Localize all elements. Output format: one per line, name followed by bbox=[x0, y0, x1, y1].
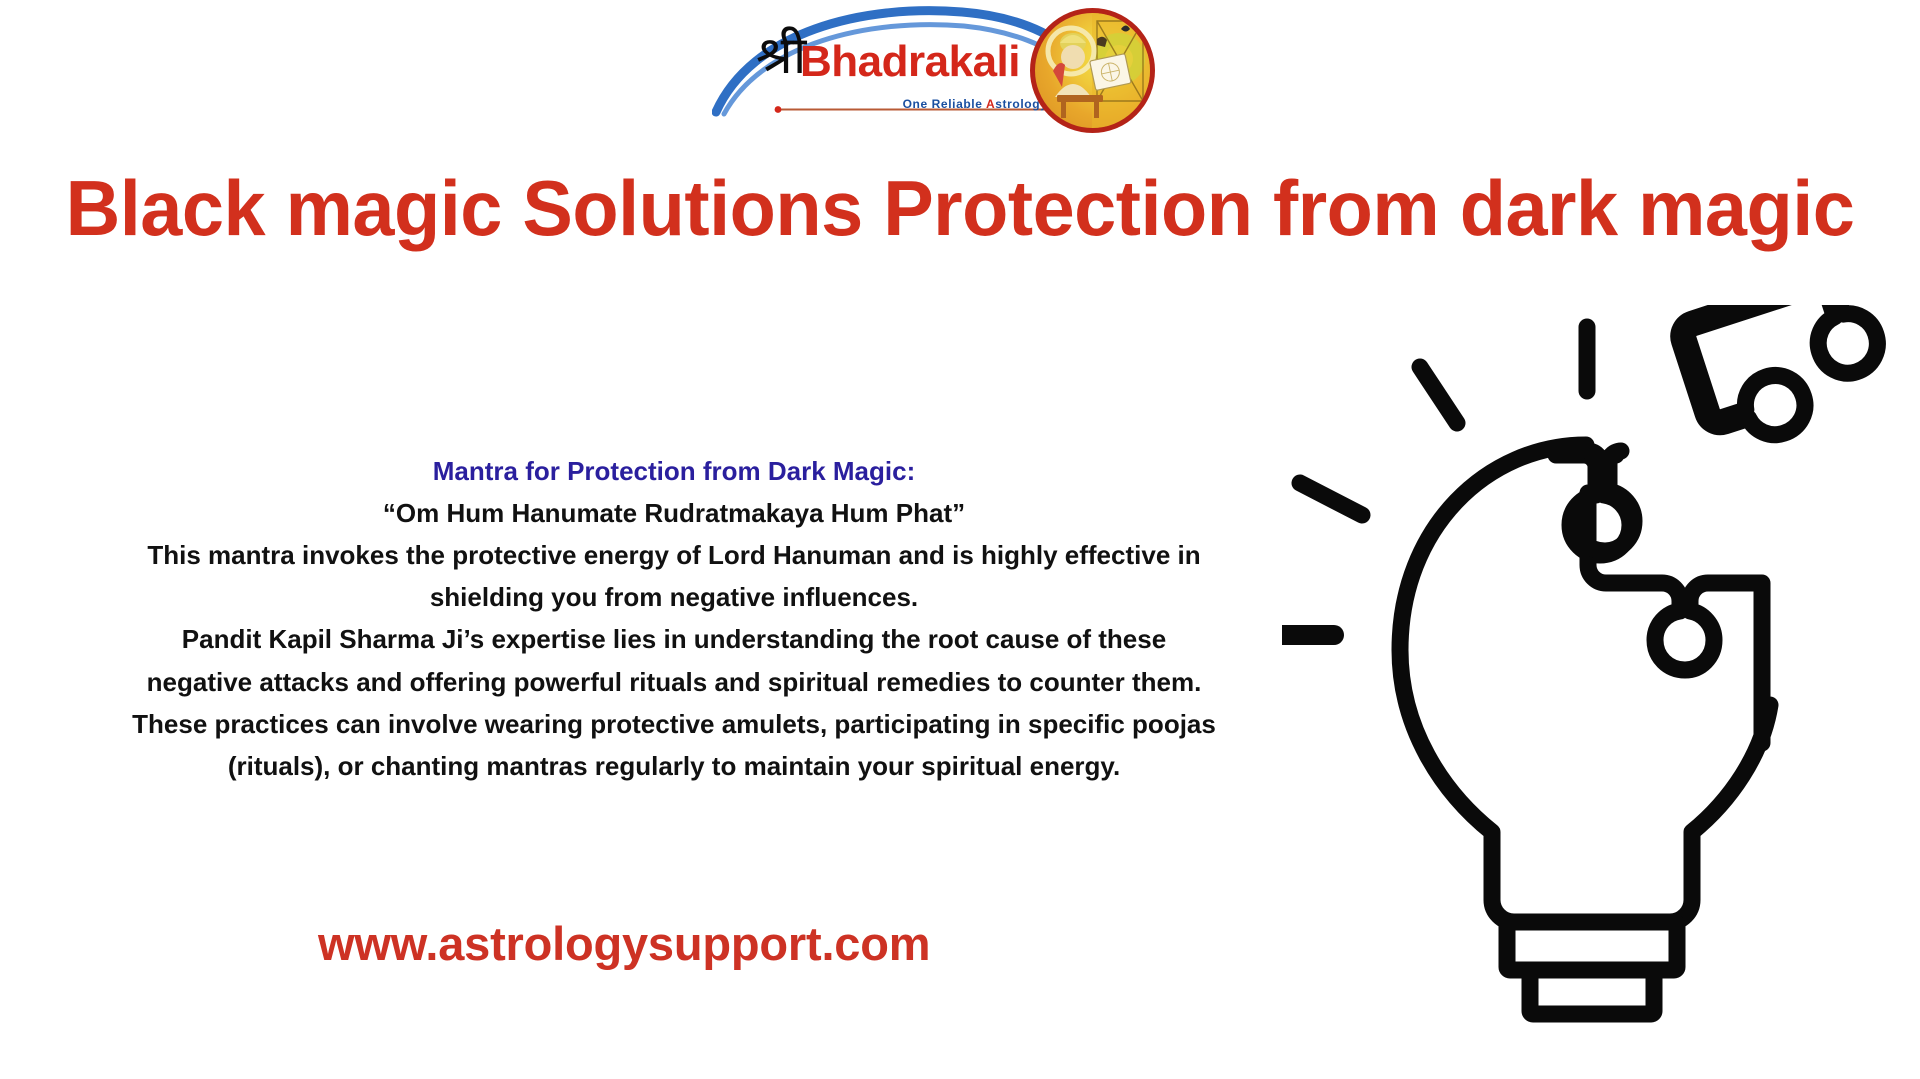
content-line-0: “Om Hum Hanumate Rudratmakaya Hum Phat” bbox=[0, 492, 1348, 534]
poster-canvas: श्री Bhadrakali One Reliable Astrology bbox=[0, 0, 1920, 1079]
content-line-4: negative attacks and offering powerful r… bbox=[0, 661, 1348, 703]
lightbulb-puzzle-icon bbox=[1282, 305, 1920, 1025]
content-line-5: These practices can involve wearing prot… bbox=[0, 703, 1348, 745]
page-title: Black magic Solutions Protection from da… bbox=[29, 168, 1891, 250]
tagline-accent: A bbox=[986, 97, 995, 111]
tagline-part1: One Reliable bbox=[903, 97, 986, 111]
brand-logo[interactable]: श्री Bhadrakali One Reliable Astrology bbox=[712, 2, 1182, 134]
content-line-1: This mantra invokes the protective energ… bbox=[0, 534, 1348, 576]
content-block: Mantra for Protection from Dark Magic: “… bbox=[0, 450, 1348, 787]
content-line-6: (rituals), or chanting mantras regularly… bbox=[0, 745, 1348, 787]
brand-name: Bhadrakali bbox=[800, 40, 1020, 84]
website-url[interactable]: www.astrologysupport.com bbox=[318, 916, 930, 971]
content-line-2: shielding you from negative influences. bbox=[0, 576, 1348, 618]
mantra-heading: Mantra for Protection from Dark Magic: bbox=[0, 450, 1348, 492]
astrologer-emblem-icon bbox=[1030, 8, 1155, 133]
shri-symbol: श्री bbox=[756, 30, 806, 82]
content-line-3: Pandit Kapil Sharma Ji’s expertise lies … bbox=[0, 618, 1348, 660]
